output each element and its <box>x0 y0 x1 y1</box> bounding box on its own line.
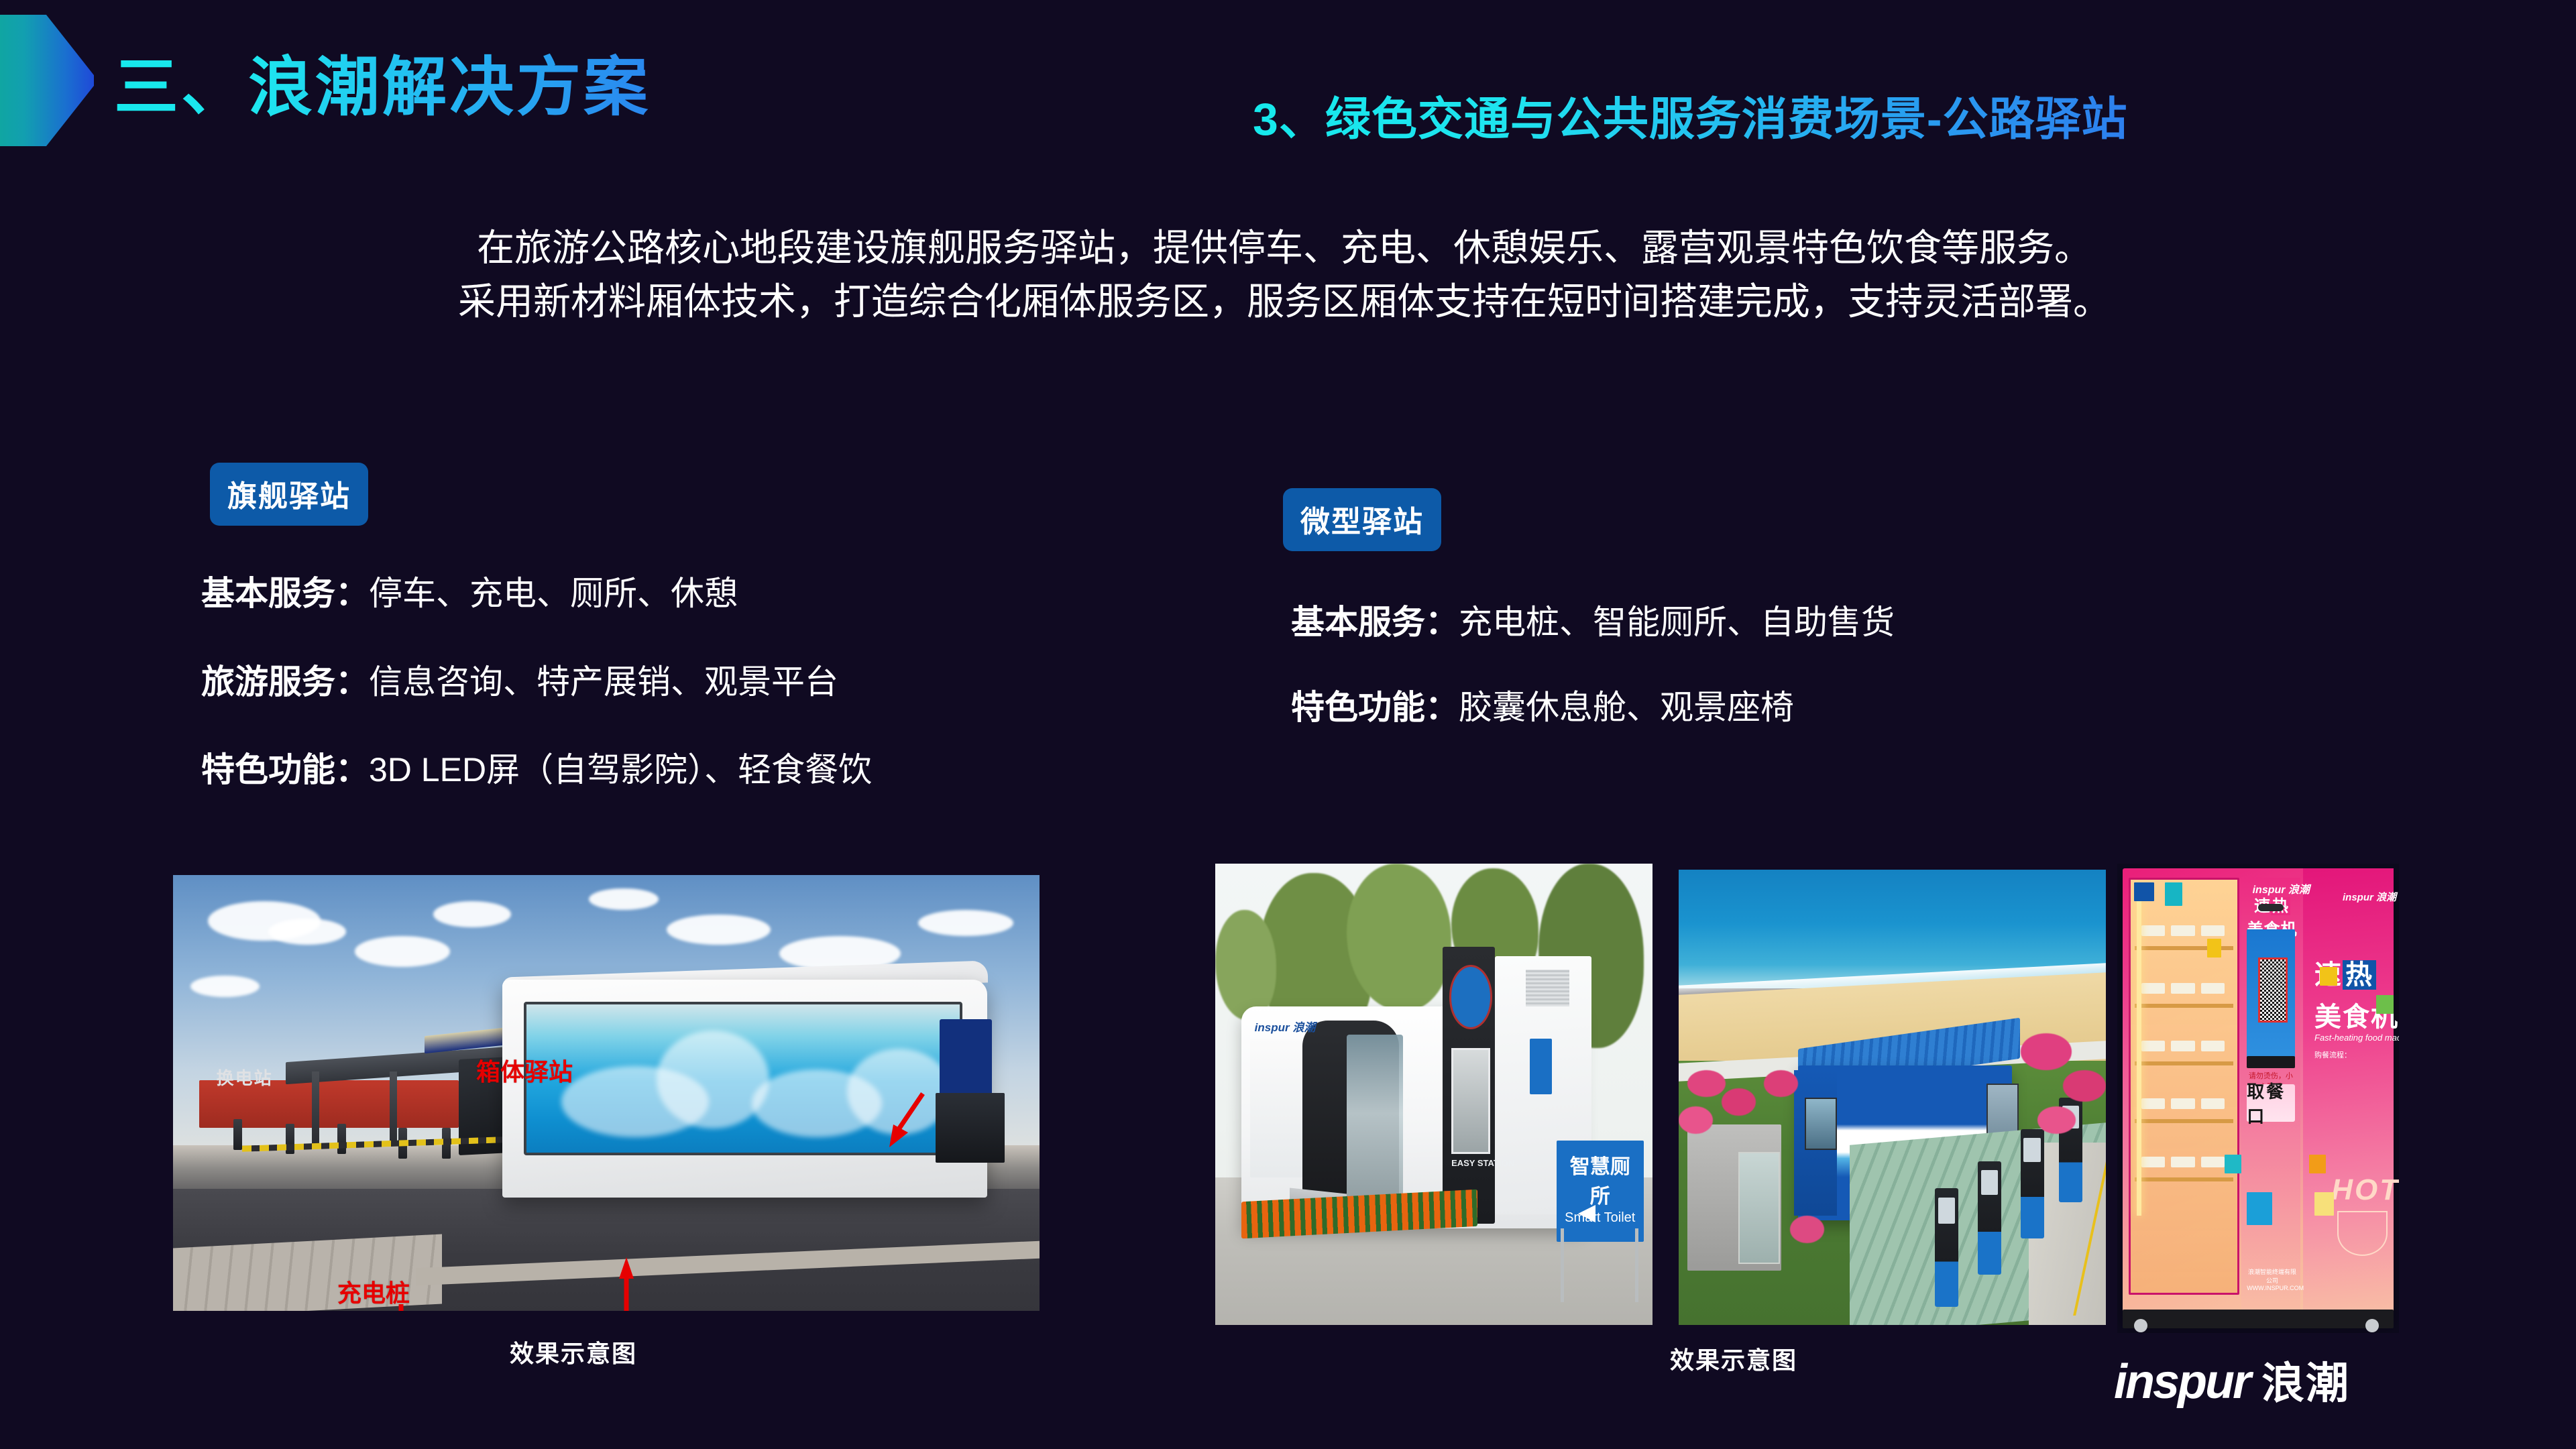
smart-toilet-sign-text: 智慧厕所 Smart Toilet <box>1561 1150 1639 1226</box>
flowering-shrub <box>1679 1106 1713 1134</box>
wave-shape <box>657 1031 769 1128</box>
badge-micro-station: 微型驿站 <box>1283 488 1441 551</box>
flowering-shrub <box>2021 1033 2072 1069</box>
service-line-feature-micro: 特色功能：胶囊休息舱、观景座椅 <box>1291 681 1794 729</box>
flowering-shrub <box>2037 1106 2076 1134</box>
product-item <box>2201 1098 2225 1109</box>
charging-pile <box>233 1119 242 1150</box>
service-line-basic-micro: 基本服务：充电桩、智能厕所、自助售货 <box>1291 595 1895 644</box>
sign-leg <box>1561 1228 1564 1302</box>
service-label: 特色功能： <box>201 751 369 789</box>
info-display-board <box>1250 1039 1302 1177</box>
pickup-label: 取餐口 <box>2247 1078 2294 1128</box>
kiosk-glass-door <box>1738 1152 1779 1264</box>
ev-charging-pile <box>1978 1161 2001 1275</box>
noodle-bowl-icon <box>2337 1211 2388 1256</box>
product-item <box>2201 1041 2225 1051</box>
service-line-basic-flagship: 基本服务：停车、充电、厕所、休憩 <box>201 567 738 615</box>
charging-pile <box>337 1124 346 1155</box>
service-value: 停车、充电、厕所、休憩 <box>369 575 738 612</box>
product-item <box>2141 1157 2165 1167</box>
annotation-arrow-up-led <box>619 1257 634 1311</box>
ventilation-grille <box>1526 970 1569 1006</box>
glass-door <box>1347 1035 1404 1210</box>
charger-screen-icon <box>1938 1198 1955 1224</box>
product-shelf <box>2135 1119 2233 1123</box>
decor-square <box>2134 882 2153 901</box>
decor-square <box>2225 1155 2241 1173</box>
service-label: 基本服务： <box>201 575 369 612</box>
battery-swap-label: 换电站 <box>217 1065 273 1090</box>
intro-line-1: 在旅游公路核心地段建设旗舰服务驿站，提供停车、充电、休憩娱乐、露营观景特色饮食等… <box>168 221 2401 275</box>
caster-wheel <box>2365 1319 2379 1332</box>
product-item <box>2171 1157 2194 1167</box>
glass-entry-door <box>936 1093 1005 1163</box>
annotation-container-station: 箱体驿站 <box>476 1053 573 1088</box>
page-subtitle: 3、绿色交通与公共服务消费场景-公路驿站 <box>1253 82 2127 148</box>
inspur-logo-side: inspur 浪潮 <box>2343 890 2396 904</box>
machine-base <box>2123 1310 2393 1328</box>
decor-square <box>2207 939 2221 958</box>
service-value: 胶囊休息舱、观景座椅 <box>1459 689 1794 726</box>
cloud-shape <box>667 915 771 945</box>
intro-line-2: 采用新材料厢体技术，打造综合化厢体服务区，服务区厢体支持在短时间搭建完成，支持灵… <box>168 275 2401 329</box>
service-value: 3D LED屏（自驾影院）、轻食餐饮 <box>369 751 872 789</box>
cloud-shape <box>190 976 260 998</box>
photo-vending-machine: inspur 浪潮 速热美食机 请勿烫伤，小心取手 取餐口 浪潮智能终端有限公司… <box>2117 864 2399 1333</box>
product-shelf <box>2135 1061 2233 1065</box>
sign-label-en: Smart Toilet <box>1561 1210 1639 1226</box>
product-item <box>2141 983 2165 994</box>
flowering-shrub <box>2063 1070 2106 1102</box>
flowering-shrub <box>1790 1216 1824 1243</box>
decor-square <box>2376 995 2393 1014</box>
service-value: 充电桩、智能厕所、自助售货 <box>1459 603 1895 641</box>
product-item <box>2171 925 2194 936</box>
inspur-logo-on-unit: inspur 浪潮 <box>1255 1018 1316 1035</box>
chevron-decoration-icon <box>0 15 94 146</box>
logo-text-en: inspur <box>2114 1354 2249 1409</box>
service-label: 旅游服务： <box>201 663 369 701</box>
cloud-shape <box>355 936 450 967</box>
service-line-feature-flagship: 特色功能：3D LED屏（自驾影院）、轻食餐饮 <box>201 743 872 791</box>
flowering-shrub <box>1722 1088 1756 1116</box>
annotation-arrow-down-charging <box>394 1304 408 1311</box>
charger-screen-icon <box>2023 1138 2040 1162</box>
caption-right-images: 效果示意图 <box>1670 1341 1797 1376</box>
slide-root: 三、浪潮解决方案 3、绿色交通与公共服务消费场景-公路驿站 在旅游公路核心地段建… <box>0 0 2576 1449</box>
inspur-corporate-logo: inspur 浪潮 <box>2114 1349 2350 1411</box>
sign-label-cn: 智慧厕所 <box>1561 1150 1639 1209</box>
product-item <box>2141 1098 2165 1109</box>
side-title-english: Fast-heating food machine <box>2314 1033 2399 1043</box>
product-shelf <box>2135 1004 2233 1008</box>
canopy-pillar <box>312 1071 319 1146</box>
hot-graphic-label: HOT <box>2331 1173 2399 1207</box>
caption-left-image: 效果示意图 <box>510 1334 637 1369</box>
photo-smart-toilet-station: inspur 浪潮 EASY STATION 智慧厕所 Smart Toilet <box>1215 864 1653 1325</box>
blue-side-panel <box>940 1019 992 1098</box>
service-value: 信息咨询、特产展销、观景平台 <box>369 663 838 701</box>
decor-square <box>2309 1155 2326 1173</box>
service-label: 基本服务： <box>1291 603 1459 641</box>
logo-text-cn: 浪潮 <box>2261 1349 2350 1411</box>
sign-leg <box>1635 1228 1638 1302</box>
charger-screen-icon <box>1981 1170 1998 1195</box>
tower-window <box>1451 1048 1490 1153</box>
easy-station-brand: EASY STATION <box>1451 1159 1514 1169</box>
qr-code-icon <box>2258 958 2288 1023</box>
decor-square <box>2247 1192 2272 1225</box>
service-line-tourism-flagship: 旅游服务：信息咨询、特产展销、观景平台 <box>201 655 838 703</box>
cloud-shape <box>589 888 658 911</box>
card-slot[interactable] <box>2258 904 2284 911</box>
product-item <box>2141 925 2165 936</box>
decor-square <box>2314 1192 2334 1216</box>
cloud-shape <box>918 910 1013 936</box>
product-item <box>2201 983 2225 994</box>
ev-charging-pile <box>2021 1129 2044 1238</box>
product-item <box>2171 983 2194 994</box>
confirm-button[interactable] <box>2247 1056 2294 1068</box>
decor-square <box>2165 882 2182 906</box>
product-item <box>2201 1157 2225 1167</box>
product-shelf <box>2135 1177 2233 1181</box>
product-display-window <box>2129 878 2240 1295</box>
restroom-pictogram-sign <box>1530 1039 1552 1094</box>
toilet-roundel-icon <box>1449 965 1493 1029</box>
decor-square <box>2320 967 2337 986</box>
annotation-arrow-diagonal-container <box>884 1090 931 1150</box>
page-title: 三、浪潮解决方案 <box>114 35 651 128</box>
canopy-pillar <box>390 1071 397 1146</box>
caster-wheel <box>2134 1319 2147 1332</box>
cloud-shape <box>433 901 511 927</box>
product-item <box>2201 925 2225 936</box>
left-arrow-icon <box>1578 1205 1595 1222</box>
machine-footer-text: 浪潮智能终端有限公司 WWW.INSPUR.COM <box>2247 1267 2298 1291</box>
product-item <box>2141 1041 2165 1051</box>
ev-charging-pile <box>1935 1188 1958 1307</box>
intro-paragraph: 在旅游公路核心地段建设旗舰服务驿站，提供停车、充电、休憩娱乐、露营观景特色饮食等… <box>168 221 2401 328</box>
photo-beach-charging-station <box>1679 870 2106 1325</box>
interior-light-strip <box>2137 887 2141 1216</box>
service-label: 特色功能： <box>1291 689 1459 726</box>
product-item <box>2171 1041 2194 1051</box>
purchase-steps-label: 购餐流程： <box>2314 1049 2351 1060</box>
container-window <box>1805 1098 1838 1151</box>
cloud-shape <box>268 919 346 945</box>
pickup-door[interactable]: 取餐口 <box>2247 1084 2294 1122</box>
render-image-flagship-station: 换电站 充电桩 箱体驿站 <box>173 875 1040 1311</box>
badge-flagship-station: 旗舰驿站 <box>210 463 368 526</box>
product-item <box>2171 1098 2194 1109</box>
